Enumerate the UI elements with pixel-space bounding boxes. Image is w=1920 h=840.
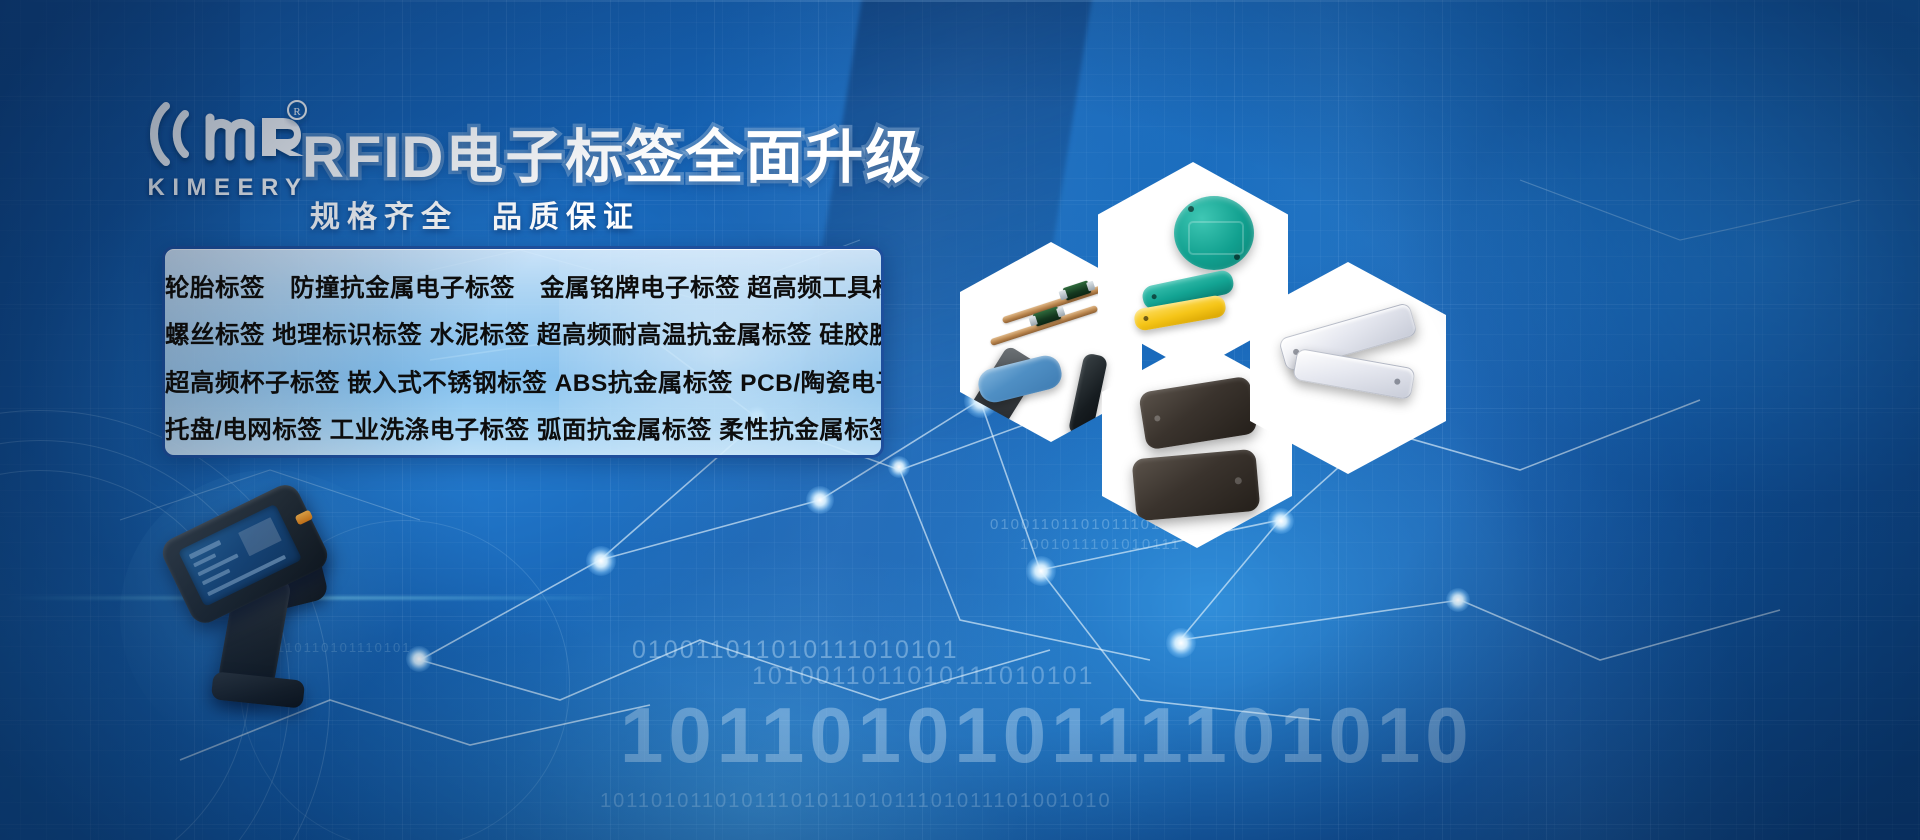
dark-plate-tag: [1132, 449, 1261, 522]
dark-plate-tag: [1138, 376, 1258, 451]
reader-indicator: [295, 509, 314, 525]
product-row: 托盘/电网标签 工业洗涤电子标签 弧面抗金属标签 柔性抗金属标签: [165, 419, 881, 444]
teal-disc-tag: [1174, 196, 1254, 270]
sub-title: 规格齐全品质保证: [310, 192, 640, 236]
sub-title-left: 规格齐全: [310, 201, 458, 234]
product-row: 轮胎标签 防撞抗金属电子标签 金属铭牌电子标签 超高频工具标签: [165, 277, 881, 302]
product-showcase: [950, 150, 1510, 550]
sub-title-right: 品质保证: [492, 201, 640, 234]
reader-base: [211, 671, 305, 708]
handheld-rfid-reader: [160, 500, 390, 730]
top-edge-line: [0, 0, 1920, 2]
page-title: RFID电子标签全面升级: [302, 110, 925, 194]
product-list-panel: 轮胎标签 防撞抗金属电子标签 金属铭牌电子标签 超高频工具标签 螺丝标签 地理标…: [162, 246, 884, 458]
white-hinged-tag: [1292, 348, 1416, 400]
brand-logo[interactable]: R KIMEERY: [140, 98, 310, 208]
svg-text:R: R: [293, 106, 301, 118]
brand-name: KIMEERY: [140, 174, 310, 202]
kimeery-wave-logo-icon: R: [140, 98, 310, 170]
banner-root: 101101010111101010 010011011010111010101…: [0, 0, 1920, 840]
product-row: 超高频杯子标签 嵌入式不锈钢标签 ABS抗金属标签 PCB/陶瓷电子标签: [165, 372, 881, 397]
product-row: 螺丝标签 地理标识标签 水泥标签 超高频耐高温抗金属标签 硅胶腕带: [165, 324, 881, 349]
